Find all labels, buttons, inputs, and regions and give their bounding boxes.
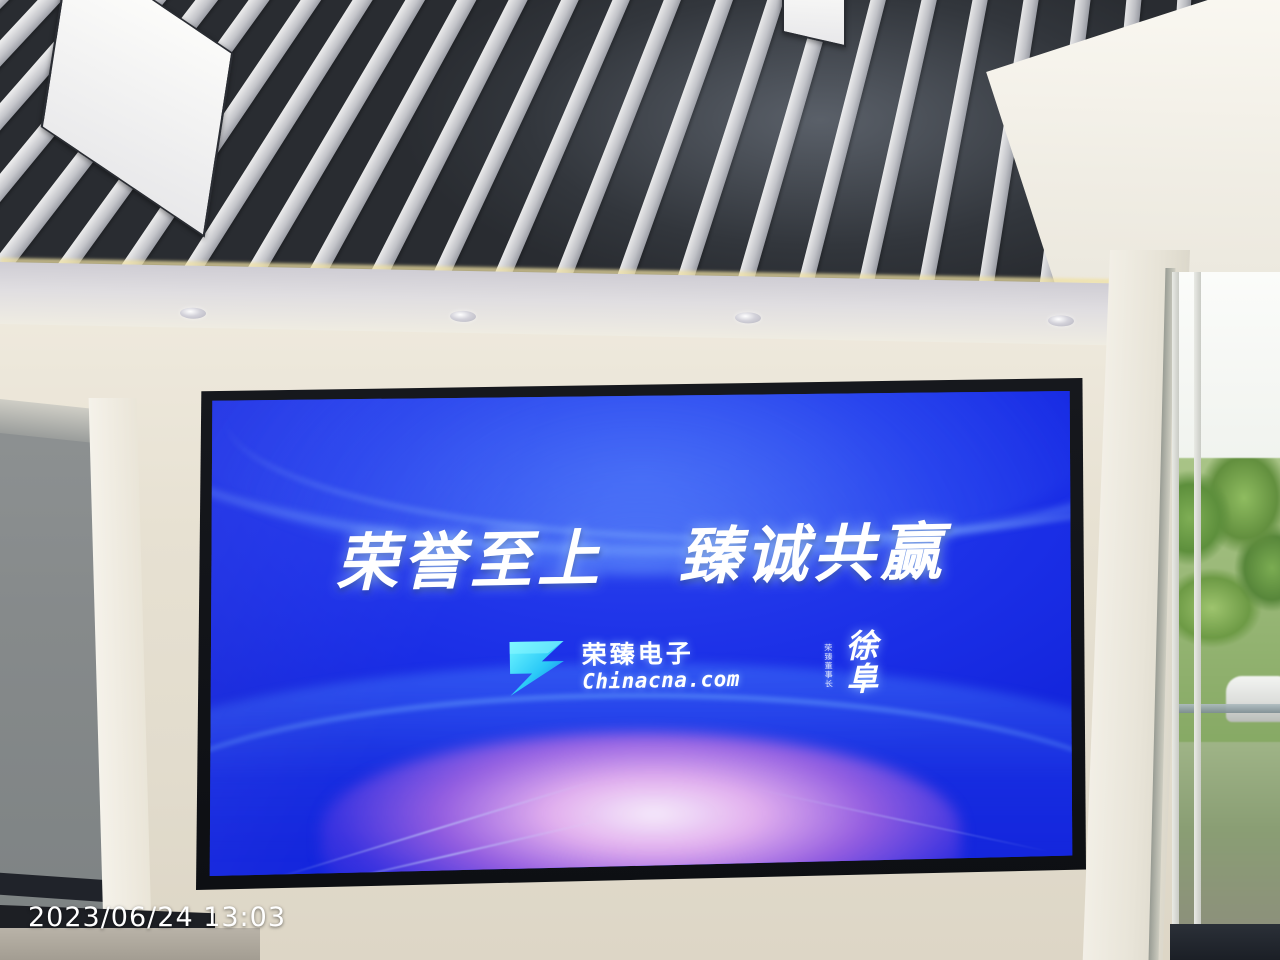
downlight-icon <box>1048 315 1074 326</box>
company-logo: 荣臻电子 Chinacna.com <box>502 632 741 702</box>
slogan-left: 荣誉至上 <box>335 526 604 599</box>
logo-website: Chinacna.com <box>583 669 741 693</box>
downlight-icon <box>735 312 761 323</box>
signature-title: 荣臻董事长 <box>823 643 835 688</box>
downlight-icon <box>180 307 206 318</box>
ceiling <box>0 0 1280 300</box>
window <box>1172 272 1280 960</box>
window-mullion <box>1172 704 1280 713</box>
window-parked-car <box>1226 676 1280 722</box>
logo-wordmark: 荣臻电子 Chinacna.com <box>582 640 741 693</box>
photo-timestamp: 2023/06/24 13:03 <box>28 902 286 933</box>
window-frame-vertical <box>1194 272 1201 960</box>
logo-company-cn: 荣臻电子 <box>582 640 740 668</box>
led-display[interactable]: 荣誉至上 臻诚共赢 荣臻电子 <box>196 378 1086 890</box>
slogan-text: 荣誉至上 臻诚共赢 <box>208 499 1074 606</box>
slogan-gap <box>625 579 659 580</box>
downlight-icon <box>450 311 476 322</box>
chairman-signature: 荣臻董事长 徐阜 <box>822 629 883 696</box>
slogan-right: 臻诚共赢 <box>678 519 947 592</box>
photo-scene: 荣誉至上 臻诚共赢 荣臻电子 <box>0 0 1280 960</box>
window-sill <box>1170 924 1280 960</box>
window-frame-vertical <box>1172 272 1179 960</box>
chevron-z-mark-icon <box>502 635 573 702</box>
display-screen[interactable]: 荣誉至上 臻诚共赢 荣臻电子 <box>208 390 1074 878</box>
signature-name: 徐阜 <box>836 629 883 696</box>
